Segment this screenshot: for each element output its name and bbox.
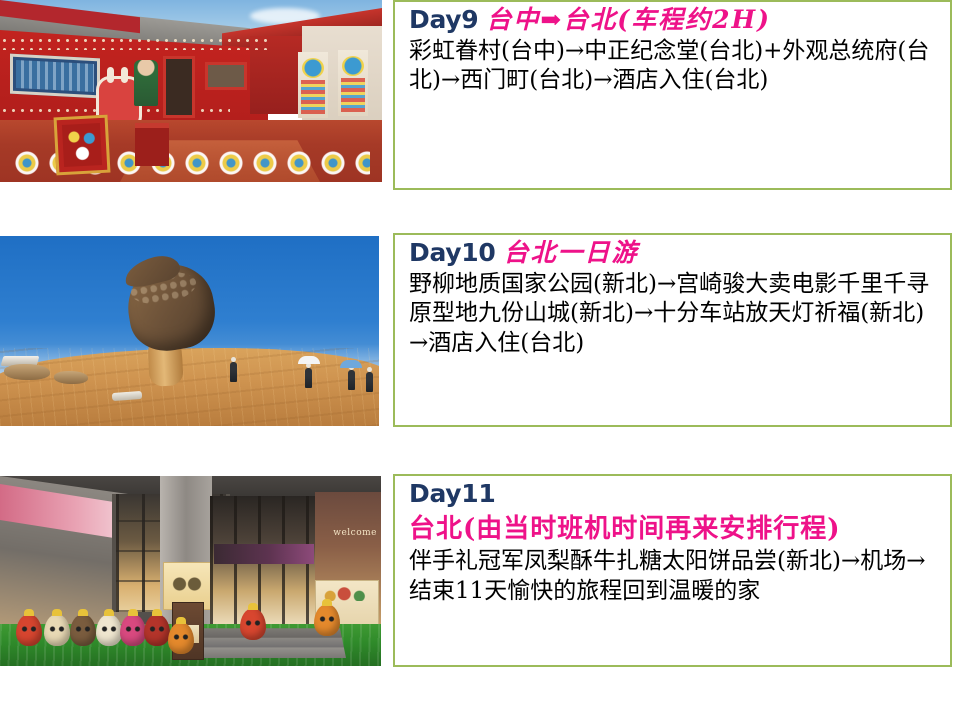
mural-soldier <box>134 60 158 106</box>
mascot-figure <box>120 614 146 646</box>
boulder <box>4 364 50 380</box>
card-heading-day11: Day11 <box>409 480 942 509</box>
visitor <box>348 370 355 390</box>
mural-dot-band <box>0 36 268 50</box>
mural-doll <box>338 50 368 116</box>
painted-door <box>163 56 195 118</box>
itinerary-row-day10: Day10台北一日游 野柳地质国家公园(新北)→宫崎骏大卖电影千里千寻原型地九份… <box>0 233 960 429</box>
mascot-figure <box>314 604 340 636</box>
mascot-figure <box>168 622 194 654</box>
visitor <box>366 372 373 392</box>
rainbow-village-photo <box>0 0 382 182</box>
accent-title: 台中➡台北(车程约2H) <box>486 5 771 34</box>
itinerary-card-day10: Day10台北一日游 野柳地质国家公园(新北)→宫崎骏大卖电影千里千寻原型地九份… <box>393 233 952 427</box>
day-label: Day11 <box>409 479 495 508</box>
day-label: Day10 <box>409 238 495 267</box>
mascot-figure <box>44 614 70 646</box>
rock-texture <box>0 348 379 426</box>
mascot-figure <box>96 614 122 646</box>
umbrella <box>340 360 362 368</box>
day-label: Day9 <box>409 5 478 34</box>
visitor <box>230 362 237 382</box>
mascot-figure <box>16 614 42 646</box>
painted-window-small <box>205 62 247 90</box>
mural-board <box>54 115 111 176</box>
souvenir-shop-photo: welcome <box>0 476 381 666</box>
purple-sign-band <box>214 544 314 564</box>
itinerary-text: 野柳地质国家公园(新北)→宫崎骏大卖电影千里千寻原型地九份山城(新北)→十分车站… <box>409 270 942 358</box>
mural-doll <box>298 52 328 118</box>
umbrella <box>298 356 320 364</box>
welcome-label: welcome <box>333 528 377 538</box>
card-heading-day10: Day10台北一日游 <box>409 239 942 268</box>
itinerary-card-day9: Day9台中➡台北(车程约2H) 彩虹眷村(台中)→中正纪念堂(台北)+外观总统… <box>393 0 952 190</box>
card-heading-day9: Day9台中➡台北(车程约2H) <box>409 6 942 35</box>
itinerary-row-day11: welcome Day11 台北(由当时班机时间再来安排行程) 伴手礼冠军凤梨酥… <box>0 474 960 669</box>
mascot-figure <box>144 614 170 646</box>
mascot-figure <box>240 608 266 640</box>
red-table <box>135 123 169 166</box>
itinerary-text: 伴手礼冠军凤梨酥牛扎糖太阳饼品尝(新北)→机场→结束11天愉快的旅程回到温暖的家 <box>409 547 942 606</box>
itinerary-text: 彩虹眷村(台中)→中正纪念堂(台北)+外观总统府(台北)→西门町(台北)→酒店入… <box>409 37 942 96</box>
accent-title: 台北(由当时班机时间再来安排行程) <box>409 513 942 546</box>
mascot-figure <box>70 614 96 646</box>
visitor <box>305 368 312 388</box>
boulder <box>54 371 88 384</box>
itinerary-card-day11: Day11 台北(由当时班机时间再来安排行程) 伴手礼冠军凤梨酥牛扎糖太阳饼品尝… <box>393 474 952 667</box>
painted-window <box>10 54 100 99</box>
accent-title: 台北一日游 <box>503 238 638 267</box>
yehliu-queens-head-photo <box>0 236 379 426</box>
itinerary-row-day9: Day9台中➡台北(车程约2H) 彩虹眷村(台中)→中正纪念堂(台北)+外观总统… <box>0 0 960 190</box>
